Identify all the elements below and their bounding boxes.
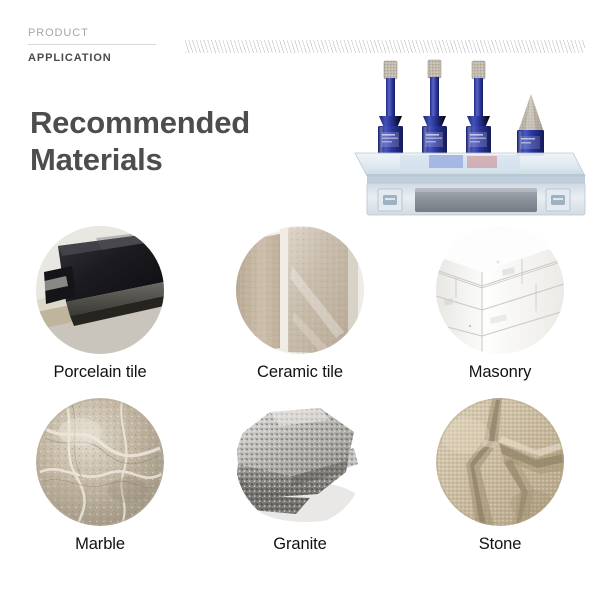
case-latch-right [546,189,570,211]
kicker-divider [28,44,156,45]
material-label: Masonry [469,362,532,382]
material-cell-stone[interactable]: Stone [400,398,600,570]
material-label: Marble [75,534,125,554]
granite-swatch [236,398,364,526]
material-cell-masonry[interactable]: Masonry [400,226,600,398]
product-application-page: PRODUCT APPLICATION Recommended Material… [0,0,600,600]
material-cell-porcelain-tile[interactable]: Porcelain tile [0,226,200,398]
porcelain-tile-swatch [36,226,164,354]
masonry-swatch [436,226,564,354]
page-title-line1: Recommended [30,104,330,141]
product-photo-drill-bit-set [345,58,595,218]
stone-image [436,398,564,526]
case-latch-left [378,189,402,211]
header-kicker-block: PRODUCT APPLICATION [28,26,178,65]
materials-row-1: Porcelain tile [0,226,600,398]
masonry-image [436,226,564,354]
diagonal-hatch-decoration [185,40,585,53]
material-label: Stone [479,534,522,554]
marble-swatch [36,398,164,526]
ceramic-tile-image [236,226,364,354]
porcelain-tile-image [36,226,164,354]
plastic-case [355,153,585,215]
materials-row-2: Marble [0,398,600,570]
stone-swatch [436,398,564,526]
marble-image [36,398,164,526]
ceramic-tile-swatch [236,226,364,354]
drill-bit-set-illustration [345,58,595,218]
granite-image [236,398,364,526]
material-cell-marble[interactable]: Marble [0,398,200,570]
material-label: Granite [273,534,326,554]
page-title: Recommended Materials [30,104,330,178]
material-cell-ceramic-tile[interactable]: Ceramic tile [200,226,400,398]
kicker-product: PRODUCT [28,26,178,40]
material-label: Porcelain tile [53,362,146,382]
kicker-application: APPLICATION [28,51,178,65]
material-label: Ceramic tile [257,362,343,382]
page-title-line2: Materials [30,141,330,178]
recommended-materials-grid: Porcelain tile [0,226,600,570]
material-cell-granite[interactable]: Granite [200,398,400,570]
